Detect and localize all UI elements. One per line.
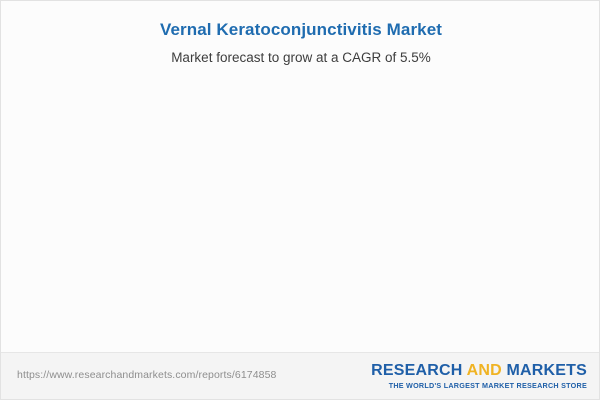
logo-word-markets: MARKETS xyxy=(502,362,587,379)
chart-plot-area: USD 426.2 Million 2024 USD 720.1 Million xyxy=(1,1,600,346)
logo-word-research: RESEARCH xyxy=(371,362,466,379)
logo-word-and: AND xyxy=(467,362,502,379)
logo-wordmark: RESEARCH AND MARKETS xyxy=(371,362,587,379)
logo-tagline: THE WORLD'S LARGEST MARKET RESEARCH STOR… xyxy=(371,381,587,390)
research-and-markets-logo[interactable]: RESEARCH AND MARKETS THE WORLD'S LARGEST… xyxy=(371,362,587,390)
report-url-link[interactable]: https://www.researchandmarkets.com/repor… xyxy=(17,369,276,381)
chart-card: Vernal Keratoconjunctivitis Market Marke… xyxy=(0,0,600,400)
chart-footer: https://www.researchandmarkets.com/repor… xyxy=(1,352,600,399)
